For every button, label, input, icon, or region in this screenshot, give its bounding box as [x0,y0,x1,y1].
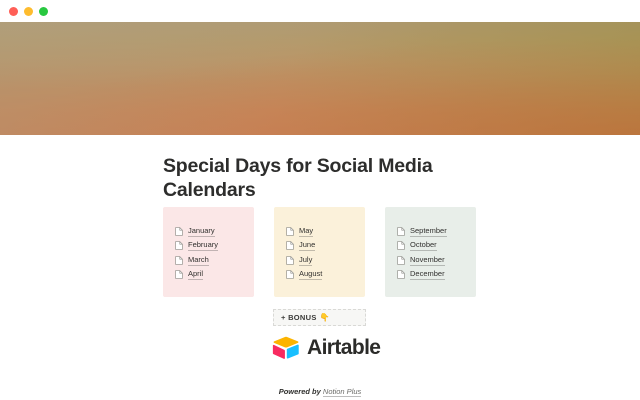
list-item[interactable]: May [286,224,365,239]
document-icon [286,270,294,279]
footer-credit: Powered by Notion Plus [0,387,640,396]
page-title: Special Days for Social Media Calendars [163,154,443,202]
bonus-badge[interactable]: + BONUS 👇 [273,309,366,326]
footer-prefix: Powered by [279,387,321,396]
list-item-label: February [188,240,218,251]
list-item-label: September [410,226,447,237]
list-item[interactable]: August [286,268,365,283]
list-item-label: November [410,255,445,266]
document-icon [397,270,405,279]
minimize-button[interactable] [24,7,33,16]
list-item[interactable]: November [397,253,476,268]
footer-brand[interactable]: Notion Plus [323,387,361,397]
document-icon [286,256,294,265]
document-icon [175,227,183,236]
close-button[interactable] [9,7,18,16]
document-icon [397,227,405,236]
list-item-label: October [410,240,437,251]
list-item-label: January [188,226,215,237]
list-item[interactable]: January [175,224,254,239]
backhand-index-pointing-down-icon: 👇 [320,314,330,322]
list-item[interactable]: February [175,239,254,254]
document-icon [286,227,294,236]
list-item-label: April [188,269,203,280]
list-item[interactable]: December [397,268,476,283]
bonus-label: + BONUS [281,313,317,322]
hero-gradient-overlay [0,22,640,135]
list-item-label: June [299,240,315,251]
list-item-label: May [299,226,313,237]
hero-banner-image [0,22,640,135]
document-icon [175,241,183,250]
month-card-q1: January February March [163,207,254,297]
page-content: Special Days for Social Media Calendars … [0,135,640,400]
list-item[interactable]: September [397,224,476,239]
airtable-logo-icon [272,336,300,359]
list-item[interactable]: March [175,253,254,268]
document-icon [175,270,183,279]
document-icon [397,241,405,250]
list-item[interactable]: July [286,253,365,268]
list-item-label: December [410,269,445,280]
list-item[interactable]: October [397,239,476,254]
airtable-logo[interactable]: Airtable [272,336,380,359]
list-item[interactable]: June [286,239,365,254]
document-icon [397,256,405,265]
list-item-label: July [299,255,312,266]
airtable-wordmark: Airtable [307,336,380,359]
list-item[interactable]: April [175,268,254,283]
browser-window: Special Days for Social Media Calendars … [0,0,640,400]
list-item-label: August [299,269,322,280]
month-card-group: January February March [163,207,478,297]
maximize-button[interactable] [39,7,48,16]
month-card-q3: September October November [385,207,476,297]
month-card-q2: May June July [274,207,365,297]
document-icon [286,241,294,250]
document-icon [175,256,183,265]
window-titlebar [0,0,640,22]
list-item-label: March [188,255,209,266]
